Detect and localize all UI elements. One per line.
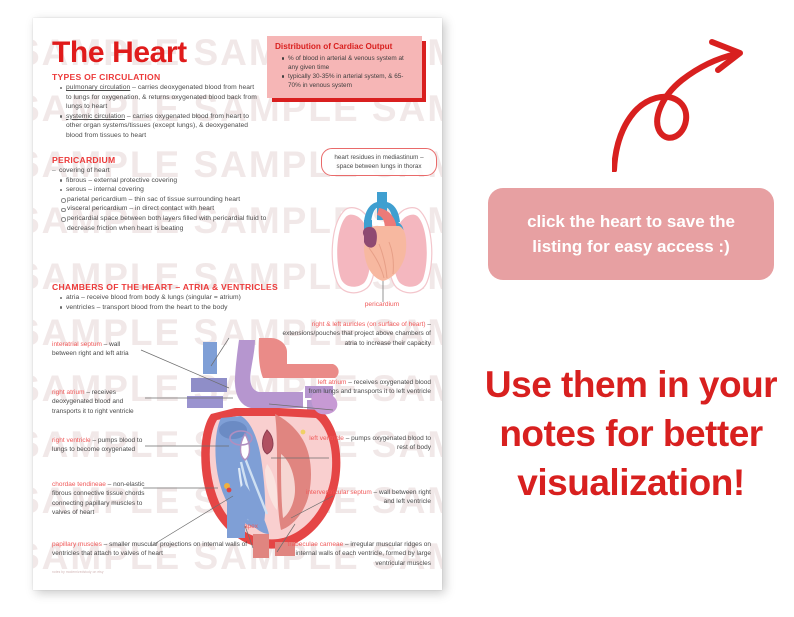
list-item: fibrous – external protective covering [60, 176, 286, 186]
study-notes-page: SAMPLE SAMPLE SAMPLE SAMPLE SAMPLE SAMPL… [33, 18, 442, 590]
mediastinum-callout: heart residues in mediastinum – space be… [321, 148, 437, 176]
listing-preview-paper: SAMPLE SAMPLE SAMPLE SAMPLE SAMPLE SAMPL… [33, 18, 442, 590]
list-item: parietal pericardium – thin sac of tissu… [61, 195, 286, 205]
lungs-pericardium-figure [323, 186, 441, 304]
section-heading-pericardium: PERICARDIUM [52, 155, 115, 165]
list-item: covering of heart [52, 166, 286, 176]
section-body-chambers: atria – receive blood from body & lungs … [52, 293, 292, 312]
footer-credit: notes by modernizedstudy on etsy [52, 570, 104, 574]
curly-arrow-up-right-icon [612, 22, 774, 172]
save-listing-cta[interactable]: click the heart to save the listing for … [488, 188, 774, 280]
annotation-interventricular-septum: interventricular septum – wall between r… [299, 488, 431, 507]
annotation-right-ventricle: right ventricle – pumps blood to lungs t… [52, 436, 146, 455]
cardiac-output-callout: Distribution of Cardiac Output % of bloo… [267, 36, 422, 98]
list-item: systemic circulation – carries oxygenate… [60, 112, 260, 141]
annotation-chordae-tendineae: chordae tendineae – non-elastic fibrous … [52, 480, 148, 518]
annotation-interatrial-septum: interatrial septum – wall between right … [52, 340, 144, 359]
section-body-pericardium: covering of heart fibrous – external pro… [52, 166, 286, 233]
annotation-left-ventricle: left ventricle – pumps oxygenated blood … [305, 434, 431, 453]
annotation-right-atrium: right atrium – receives deoxygenated blo… [52, 388, 144, 416]
annotation-apex: apex [229, 522, 273, 531]
annotation-auricles: right & left auricles (on surface of hea… [269, 320, 431, 348]
promo-headline: Use them in your notes for better visual… [472, 360, 790, 507]
list-item: atria – receive blood from body & lungs … [60, 293, 292, 303]
section-heading-chambers: CHAMBERS OF THE HEART – ATRIA & VENTRICL… [52, 282, 278, 292]
list-item: pulmonary circulation – carries deoxygen… [60, 83, 260, 112]
page-title: The Heart [52, 36, 187, 70]
callout-card: Distribution of Cardiac Output % of bloo… [267, 36, 422, 98]
section-body-circulation: pulmonary circulation – carries deoxygen… [52, 83, 260, 141]
list-item: pericardial space between both layers fi… [61, 214, 286, 233]
cta-label: click the heart to save the listing for … [488, 209, 774, 259]
annotation-left-atrium: left atrium – receives oxygenated blood … [305, 378, 431, 397]
list-item: % of blood in arterial & venous system a… [282, 54, 414, 72]
section-heading-circulation: TYPES OF CIRCULATION [52, 72, 160, 82]
list-item: serous – internal covering [60, 185, 286, 195]
list-item: visceral pericardium – in direct contact… [61, 204, 286, 214]
annotation-papillary-muscles: papillary muscles – smaller muscular pro… [52, 540, 258, 559]
annotation-trabeculae-carneae: trabeculae carneae – irregular muscular … [271, 540, 431, 568]
lungs-figure-caption: pericardium [323, 301, 441, 308]
callout-title: Distribution of Cardiac Output [275, 42, 414, 51]
list-item: typically 30-35% in arterial system, & 6… [282, 72, 414, 90]
list-item: ventricles – transport blood from the he… [60, 303, 292, 313]
